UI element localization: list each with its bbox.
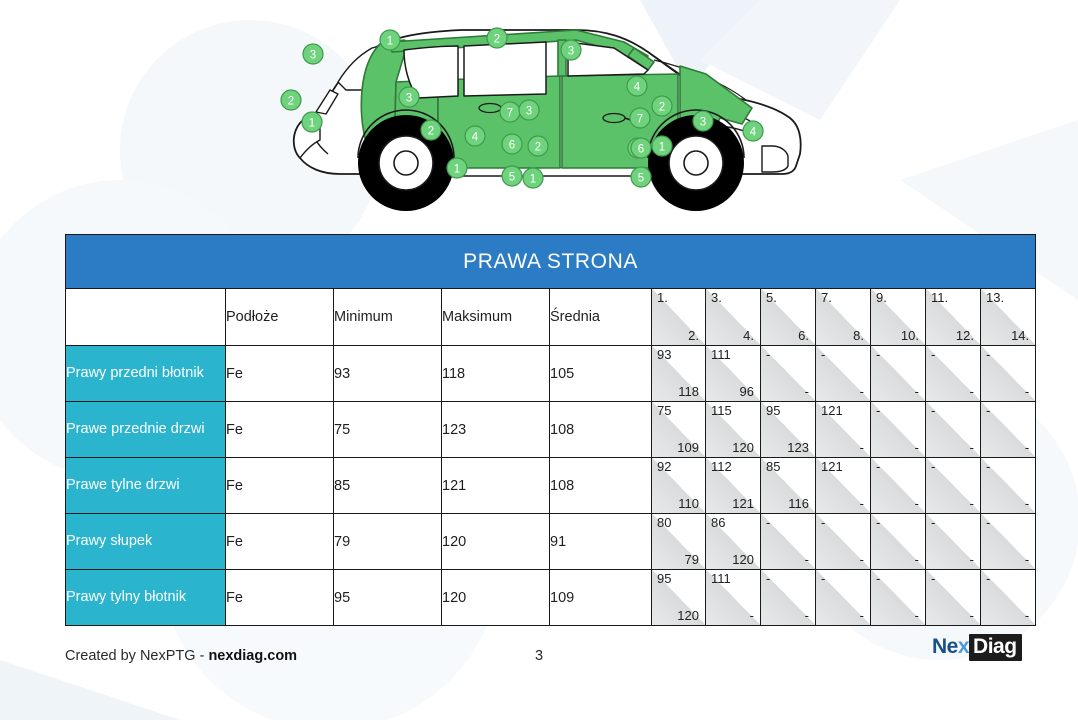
measure-top-value: - xyxy=(821,348,825,362)
measure-pair-7: -- xyxy=(981,514,1036,570)
measurement-point-label: 2 xyxy=(535,142,541,154)
measurement-point-label: 2 xyxy=(494,34,500,46)
row-element-label: Prawy tylny błotnik xyxy=(66,570,226,626)
measure-bottom-value: - xyxy=(1025,497,1029,511)
row-podloze-value: Fe xyxy=(226,402,334,458)
measure-pair-1: 92110 xyxy=(652,458,706,514)
page-number: 3 xyxy=(0,648,1078,664)
measure-top-value: - xyxy=(766,348,770,362)
measure-bottom-value: - xyxy=(1025,385,1029,399)
row-maksimum-value: 120 xyxy=(442,570,550,626)
measure-top-value: - xyxy=(931,572,935,586)
row-maksimum-value: 118 xyxy=(442,346,550,402)
header-measure-pair-4: 7.8. xyxy=(816,289,871,346)
measurement-point-label: 4 xyxy=(634,82,641,94)
measure-pair-5: -- xyxy=(871,402,926,458)
header-podloze: Podłoże xyxy=(226,289,334,346)
measure-top-value: - xyxy=(876,460,880,474)
row-minimum-value: 75 xyxy=(334,402,442,458)
measure-pair-3: 85116 xyxy=(761,458,816,514)
measure-pair-1: 95120 xyxy=(652,570,706,626)
measure-top-value: - xyxy=(986,460,990,474)
measurement-point-label: 3 xyxy=(568,46,574,58)
logo-text-diag: Diag xyxy=(969,634,1022,661)
measure-bottom-value: - xyxy=(970,609,974,623)
header-measure-pair-7: 13.14. xyxy=(981,289,1036,346)
measure-top-value: 112 xyxy=(711,460,732,474)
measurement-point-label: 1 xyxy=(659,142,665,154)
header-measure-bottom: 8. xyxy=(853,329,864,343)
measurement-point-label: 3 xyxy=(700,117,706,129)
row-element-label: Prawy słupek xyxy=(66,514,226,570)
row-podloze-value: Fe xyxy=(226,514,334,570)
measure-top-value: - xyxy=(986,348,990,362)
measure-pair-1: 75109 xyxy=(652,402,706,458)
measure-top-value: 111 xyxy=(711,572,731,586)
row-srednia-value: 105 xyxy=(550,346,652,402)
measure-bottom-value: - xyxy=(915,441,919,455)
measure-pair-6: -- xyxy=(926,402,981,458)
measure-bottom-value: - xyxy=(750,609,754,623)
table-row: Prawy tylny błotnikFe9512010995120111---… xyxy=(66,570,1036,626)
measurement-point-label: 5 xyxy=(638,173,644,185)
row-maksimum-value: 121 xyxy=(442,458,550,514)
row-minimum-value: 93 xyxy=(334,346,442,402)
measure-pair-2: 115120 xyxy=(706,402,761,458)
measure-bottom-value: 79 xyxy=(685,553,699,567)
row-podloze-value: Fe xyxy=(226,346,334,402)
measure-bottom-value: - xyxy=(970,497,974,511)
measure-bottom-value: 109 xyxy=(677,441,699,455)
header-measure-top: 9. xyxy=(876,291,887,305)
measure-bottom-value: - xyxy=(915,497,919,511)
measure-top-value: 75 xyxy=(657,404,671,418)
measure-pair-7: -- xyxy=(981,570,1036,626)
measure-bottom-value: - xyxy=(1025,553,1029,567)
measure-top-value: - xyxy=(986,516,990,530)
measure-bottom-value: - xyxy=(805,385,809,399)
measure-bottom-value: - xyxy=(1025,441,1029,455)
nexdiag-logo: NexDiag xyxy=(932,634,1022,660)
measure-pair-5: -- xyxy=(871,346,926,402)
measure-bottom-value: 110 xyxy=(678,497,699,511)
measure-pair-1: 8079 xyxy=(652,514,706,570)
table-row: Prawy przedni błotnikFe93118105931181119… xyxy=(66,346,1036,402)
measurement-point-label: 6 xyxy=(638,144,644,156)
header-measure-top: 11. xyxy=(931,291,948,305)
measure-top-value: - xyxy=(821,516,825,530)
measurement-point-label: 5 xyxy=(509,172,515,184)
measurement-point-label: 3 xyxy=(406,93,412,105)
measure-pair-4: 121- xyxy=(816,402,871,458)
row-srednia-value: 108 xyxy=(550,402,652,458)
report-page: 1233213241736251447261534 PRAWA STRONA P… xyxy=(0,0,1078,720)
measure-bottom-value: - xyxy=(1025,609,1029,623)
measure-bottom-value: 120 xyxy=(732,441,754,455)
measure-pair-4: -- xyxy=(816,346,871,402)
measure-pair-4: 121- xyxy=(816,458,871,514)
measure-top-value: 92 xyxy=(657,460,671,474)
measure-top-value: - xyxy=(931,404,935,418)
measurement-point-label: 1 xyxy=(530,174,536,186)
measure-bottom-value: 96 xyxy=(740,385,754,399)
measurement-point-label: 4 xyxy=(750,127,757,139)
measure-pair-4: -- xyxy=(816,570,871,626)
measure-top-value: - xyxy=(931,460,935,474)
measurement-point-label: 3 xyxy=(310,50,316,62)
measure-top-value: - xyxy=(931,516,935,530)
measure-pair-5: -- xyxy=(871,458,926,514)
measure-bottom-value: 120 xyxy=(732,553,754,567)
measure-pair-6: -- xyxy=(926,514,981,570)
header-measure-top: 5. xyxy=(766,291,777,305)
measurement-point-label: 2 xyxy=(659,102,665,114)
row-maksimum-value: 120 xyxy=(442,514,550,570)
header-element-blank xyxy=(66,289,226,346)
measure-bottom-value: - xyxy=(860,553,864,567)
measure-top-value: 95 xyxy=(657,572,671,586)
measure-top-value: - xyxy=(876,516,880,530)
measure-bottom-value: - xyxy=(860,609,864,623)
logo-text-ne: Ne xyxy=(932,635,958,659)
measure-top-value: - xyxy=(986,572,990,586)
measurement-point-label: 3 xyxy=(526,106,532,118)
header-measure-top: 3. xyxy=(711,291,722,305)
logo-text-x: x xyxy=(958,635,969,659)
measure-pair-1: 93118 xyxy=(652,346,706,402)
measure-pair-5: -- xyxy=(871,514,926,570)
measurement-point-label: 6 xyxy=(509,140,515,152)
measure-bottom-value: - xyxy=(805,553,809,567)
measure-top-value: 115 xyxy=(711,404,732,418)
measure-bottom-value: - xyxy=(970,385,974,399)
measure-top-value: - xyxy=(986,404,990,418)
measure-pair-4: -- xyxy=(816,514,871,570)
header-measure-bottom: 10. xyxy=(901,329,919,343)
measure-top-value: 95 xyxy=(766,404,780,418)
header-measure-top: 7. xyxy=(821,291,832,305)
header-maksimum: Maksimum xyxy=(442,289,550,346)
measure-top-value: - xyxy=(876,404,880,418)
measurement-point-label: 2 xyxy=(428,126,434,138)
measure-top-value: - xyxy=(876,572,880,586)
measurement-point-label: 2 xyxy=(288,96,294,108)
section-title: PRAWA STRONA xyxy=(66,235,1036,289)
measurement-point-label: 7 xyxy=(507,108,513,120)
measure-top-value: 121 xyxy=(821,404,843,418)
measure-bottom-value: - xyxy=(860,385,864,399)
row-minimum-value: 95 xyxy=(334,570,442,626)
measure-bottom-value: 120 xyxy=(677,609,699,623)
measure-bottom-value: 123 xyxy=(787,441,809,455)
measure-top-value: - xyxy=(766,572,770,586)
header-measure-pair-3: 5.6. xyxy=(761,289,816,346)
measure-pair-2: 11196 xyxy=(706,346,761,402)
row-element-label: Prawe przednie drzwi xyxy=(66,402,226,458)
header-measure-top: 1. xyxy=(657,291,668,305)
measurement-point-label: 4 xyxy=(472,132,479,144)
row-minimum-value: 79 xyxy=(334,514,442,570)
measure-pair-7: -- xyxy=(981,458,1036,514)
measure-top-value: - xyxy=(876,348,880,362)
header-measure-bottom: 2. xyxy=(688,329,699,343)
measure-bottom-value: - xyxy=(915,385,919,399)
measure-pair-7: -- xyxy=(981,346,1036,402)
row-element-label: Prawe tylne drzwi xyxy=(66,458,226,514)
measure-top-value: 86 xyxy=(711,516,725,530)
header-minimum: Minimum xyxy=(334,289,442,346)
header-srednia: Średnia xyxy=(550,289,652,346)
measure-pair-3: -- xyxy=(761,346,816,402)
measure-pair-3: -- xyxy=(761,570,816,626)
measure-pair-2: 86120 xyxy=(706,514,761,570)
row-maksimum-value: 123 xyxy=(442,402,550,458)
row-podloze-value: Fe xyxy=(226,458,334,514)
header-measure-pair-5: 9.10. xyxy=(871,289,926,346)
table-row: Prawy słupekFe7912091807986120---------- xyxy=(66,514,1036,570)
measure-bottom-value: - xyxy=(860,497,864,511)
measure-bottom-value: 118 xyxy=(678,385,699,399)
measurement-point-label: 1 xyxy=(387,36,393,48)
measure-pair-5: -- xyxy=(871,570,926,626)
table-row: Prawe tylne drzwiFe851211089211011212185… xyxy=(66,458,1036,514)
header-measure-bottom: 12. xyxy=(956,329,974,343)
row-element-label: Prawy przedni błotnik xyxy=(66,346,226,402)
measure-pair-7: -- xyxy=(981,402,1036,458)
measure-top-value: 111 xyxy=(711,348,731,362)
measure-top-value: - xyxy=(931,348,935,362)
row-srednia-value: 109 xyxy=(550,570,652,626)
measurement-point-label: 1 xyxy=(309,118,315,130)
measure-pair-6: -- xyxy=(926,458,981,514)
header-measure-bottom: 6. xyxy=(798,329,809,343)
measure-pair-2: 111- xyxy=(706,570,761,626)
header-measure-pair-6: 11.12. xyxy=(926,289,981,346)
measure-pair-6: -- xyxy=(926,346,981,402)
measure-pair-3: 95123 xyxy=(761,402,816,458)
measure-bottom-value: 116 xyxy=(788,497,809,511)
measure-top-value: 85 xyxy=(766,460,780,474)
measure-pair-2: 112121 xyxy=(706,458,761,514)
measure-pair-3: -- xyxy=(761,514,816,570)
measure-bottom-value: - xyxy=(805,609,809,623)
header-measure-pair-1: 1.2. xyxy=(652,289,706,346)
table-title-row: PRAWA STRONA xyxy=(66,235,1036,289)
car-diagram: 1233213241736251447261534 xyxy=(276,8,822,224)
measure-pair-6: -- xyxy=(926,570,981,626)
measure-top-value: 80 xyxy=(657,516,671,530)
measure-top-value: - xyxy=(766,516,770,530)
measure-bottom-value: 121 xyxy=(732,497,754,511)
measurement-point-label: 1 xyxy=(454,164,460,176)
header-measure-pair-2: 3.4. xyxy=(706,289,761,346)
table-header-row: Podłoże Minimum Maksimum Średnia 1.2.3.4… xyxy=(66,289,1036,346)
measure-bottom-value: - xyxy=(970,441,974,455)
header-measure-bottom: 4. xyxy=(743,329,754,343)
measure-bottom-value: - xyxy=(915,609,919,623)
measure-bottom-value: - xyxy=(860,441,864,455)
measure-top-value: 93 xyxy=(657,348,671,362)
measurement-point-label: 7 xyxy=(637,114,643,126)
row-srednia-value: 108 xyxy=(550,458,652,514)
header-measure-top: 13. xyxy=(986,291,1004,305)
measurements-table: PRAWA STRONA Podłoże Minimum Maksimum Śr… xyxy=(65,234,1036,626)
measure-top-value: - xyxy=(821,572,825,586)
row-podloze-value: Fe xyxy=(226,570,334,626)
measure-bottom-value: - xyxy=(970,553,974,567)
table-row: Prawe przednie drzwiFe751231087510911512… xyxy=(66,402,1036,458)
row-minimum-value: 85 xyxy=(334,458,442,514)
measure-bottom-value: - xyxy=(915,553,919,567)
measure-top-value: 121 xyxy=(821,460,843,474)
row-srednia-value: 91 xyxy=(550,514,652,570)
header-measure-bottom: 14. xyxy=(1011,329,1029,343)
